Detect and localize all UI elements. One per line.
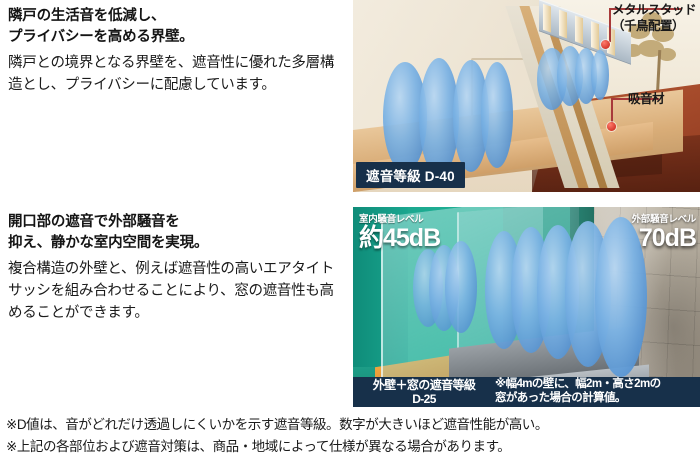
leader-line-stud-v bbox=[609, 8, 611, 42]
page-root: 隣戸の生活音を低減し、 プライバシーを高める界壁。 隣戸との境界となる界壁を、遮… bbox=[0, 0, 700, 475]
section1-body: 隣戸との境界となる界壁を、遮音性に優れた多層構造とし、プライバシーに配慮していま… bbox=[8, 53, 346, 97]
sound-wave-indoor bbox=[445, 241, 477, 333]
label-sound-absorber: 吸音材 bbox=[628, 88, 664, 107]
callout-dot-absorber bbox=[607, 122, 616, 131]
sound-wave-attenuated bbox=[591, 50, 609, 100]
leader-line-absorber-v bbox=[611, 98, 613, 124]
callout-dot-stud bbox=[601, 40, 610, 49]
caption-calculation-note: ※幅4mの壁に、幅2m・高さ2mの 窓があった場合の計算値。 bbox=[493, 378, 700, 405]
caption-grade-d25: 外壁＋窓の遮音等級 D-25 bbox=[353, 378, 493, 406]
text-column: 隣戸の生活音を低減し、 プライバシーを高める界壁。 隣戸との境界となる界壁を、遮… bbox=[0, 0, 350, 410]
outdoor-noise-label: 外部騒音レベル bbox=[632, 211, 696, 225]
figure-window-caption-bar: 外壁＋窓の遮音等級 D-25 ※幅4mの壁に、幅2m・高さ2mの 窓があった場合… bbox=[353, 377, 700, 407]
footnote-1: ※D値は、音がどれだけ透過しにくいかを示す遮音等級。数字が大きいほど遮音性能が高… bbox=[6, 414, 696, 436]
outdoor-noise-value: 70dB bbox=[632, 225, 696, 251]
sound-wave bbox=[481, 62, 513, 168]
figure-window-soundproofing: 室内騒音レベル 約45dB 外部騒音レベル 70dB 外壁＋窓の遮音等級 D-2… bbox=[353, 207, 700, 407]
label-metal-stud: メタルスタッド （千鳥配置） bbox=[612, 2, 696, 35]
section2-headline: 開口部の遮音で外部騒音を 抑え、静かな室内空間を実現。 bbox=[8, 212, 346, 253]
section-party-wall: 隣戸の生活音を低減し、 プライバシーを高める界壁。 隣戸との境界となる界壁を、遮… bbox=[8, 6, 346, 97]
indoor-noise-level: 室内騒音レベル 約45dB bbox=[359, 211, 440, 251]
outdoor-noise-level: 外部騒音レベル 70dB bbox=[632, 211, 696, 251]
section-window: 開口部の遮音で外部騒音を 抑え、静かな室内空間を実現。 複合構造の外壁と、例えば… bbox=[8, 212, 346, 324]
indoor-noise-value: 約45dB bbox=[359, 225, 440, 251]
footnote-2: ※上記の各部位および遮音対策は、商品・地域によって仕様が異なる場合があります。 bbox=[6, 436, 696, 458]
figure-party-wall-cutaway: メタルスタッド （千鳥配置） 吸音材 遮音等級 D-40 bbox=[353, 0, 700, 192]
section2-body: 複合構造の外壁と、例えば遮音性の高いエアタイトサッシを組み合わせることにより、窓… bbox=[8, 259, 346, 324]
indoor-noise-label: 室内騒音レベル bbox=[359, 211, 440, 225]
plate-soundproof-grade-d40: 遮音等級 D-40 bbox=[356, 162, 465, 188]
footnotes: ※D値は、音がどれだけ透過しにくいかを示す遮音等級。数字が大きいほど遮音性能が高… bbox=[6, 414, 696, 458]
section1-headline: 隣戸の生活音を低減し、 プライバシーを高める界壁。 bbox=[8, 6, 346, 47]
